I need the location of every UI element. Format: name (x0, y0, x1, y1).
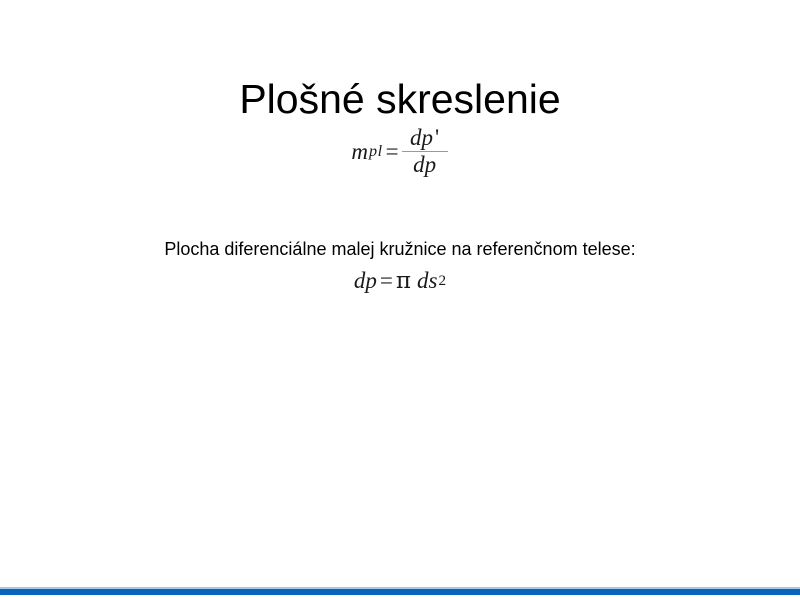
footer-accent-bar (0, 589, 800, 595)
formula1-lhs-symbol: m (351, 139, 368, 165)
formula2-equals-sign: = (377, 268, 396, 294)
formula1-fraction: dp' dp (402, 126, 448, 177)
formula1-lhs-subscript: pl (368, 143, 383, 161)
formula-circle-area-expression: dp = π ds2 (354, 268, 446, 294)
pi-symbol: π (396, 268, 413, 294)
formula1-denominator: dp (413, 152, 436, 177)
formula1-denominator-group: dp (410, 152, 439, 177)
formula2-rhs-symbol: ds (417, 268, 437, 294)
page-title: Plošné skreslenie (0, 75, 800, 123)
formula1-numerator-prime: ' (433, 125, 439, 150)
formula1-equals-sign: = (383, 139, 401, 165)
formula1-numerator: dp (410, 125, 433, 150)
formula2-lhs: dp (354, 268, 377, 294)
formula-areal-distortion: mpl = dp' dp (0, 126, 800, 177)
formula2-rhs-exponent: 2 (437, 272, 446, 290)
formula-circle-area: dp = π ds2 (0, 268, 800, 294)
body-paragraph: Plocha diferenciálne malej kružnice na r… (0, 237, 800, 261)
slide-canvas: Plošné skreslenie mpl = dp' dp Plocha di… (0, 0, 800, 600)
formula-areal-distortion-expression: mpl = dp' dp (351, 126, 448, 177)
formula1-numerator-group: dp' (407, 126, 442, 151)
